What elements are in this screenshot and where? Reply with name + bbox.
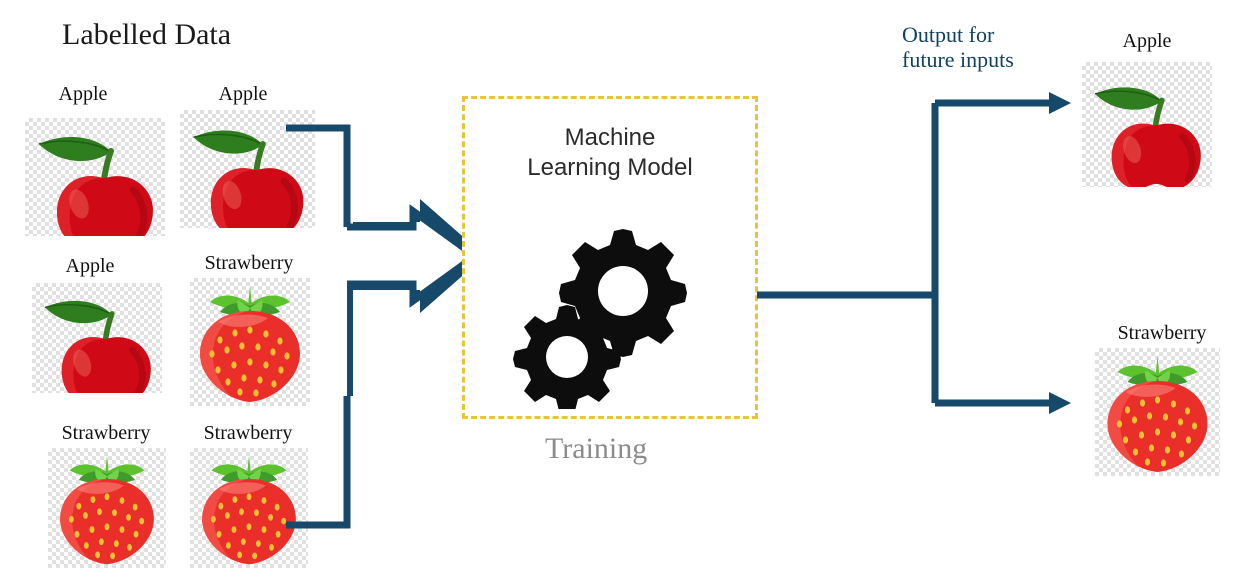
sample-image-1-apple-icon (25, 118, 165, 236)
model-title-line2: Learning Model (465, 153, 755, 183)
apple-icon (1082, 62, 1212, 187)
sample-label-1: Apple (23, 83, 143, 106)
apple-icon (32, 283, 162, 393)
machine-learning-model-box: Machine Learning Model (462, 96, 758, 419)
sample-label-5: Strawberry (42, 422, 170, 445)
sample-label-3: Apple (30, 255, 150, 278)
sample-image-5-strawberry-icon (48, 448, 166, 568)
input-arrow-connector (285, 115, 485, 535)
output-note-line2: future inputs (902, 47, 1014, 72)
arrowhead-bottom (1049, 392, 1071, 414)
model-title-line1: Machine (465, 123, 755, 153)
page-title: Labelled Data (62, 18, 231, 52)
apple-icon (25, 118, 165, 236)
output-note-line1: Output for (902, 22, 1014, 47)
result-label-2: Strawberry (1098, 322, 1226, 345)
strawberry-icon (1095, 348, 1220, 476)
sample-label-2: Apple (183, 83, 303, 106)
strawberry-icon (48, 448, 166, 568)
result-label-1: Apple (1092, 30, 1202, 53)
diagram-canvas: Labelled Data Apple Apple Apple (0, 0, 1255, 587)
gears-icon (505, 209, 705, 409)
model-caption: Training (545, 432, 647, 466)
result-image-1-apple-icon (1082, 62, 1212, 187)
model-title: Machine Learning Model (465, 123, 755, 183)
output-arrow-connector (755, 90, 1075, 420)
output-note: Output for future inputs (902, 22, 1014, 72)
sample-image-3-apple-icon (32, 283, 162, 393)
result-image-2-strawberry-icon (1095, 348, 1220, 476)
arrowhead-top (1049, 92, 1071, 114)
